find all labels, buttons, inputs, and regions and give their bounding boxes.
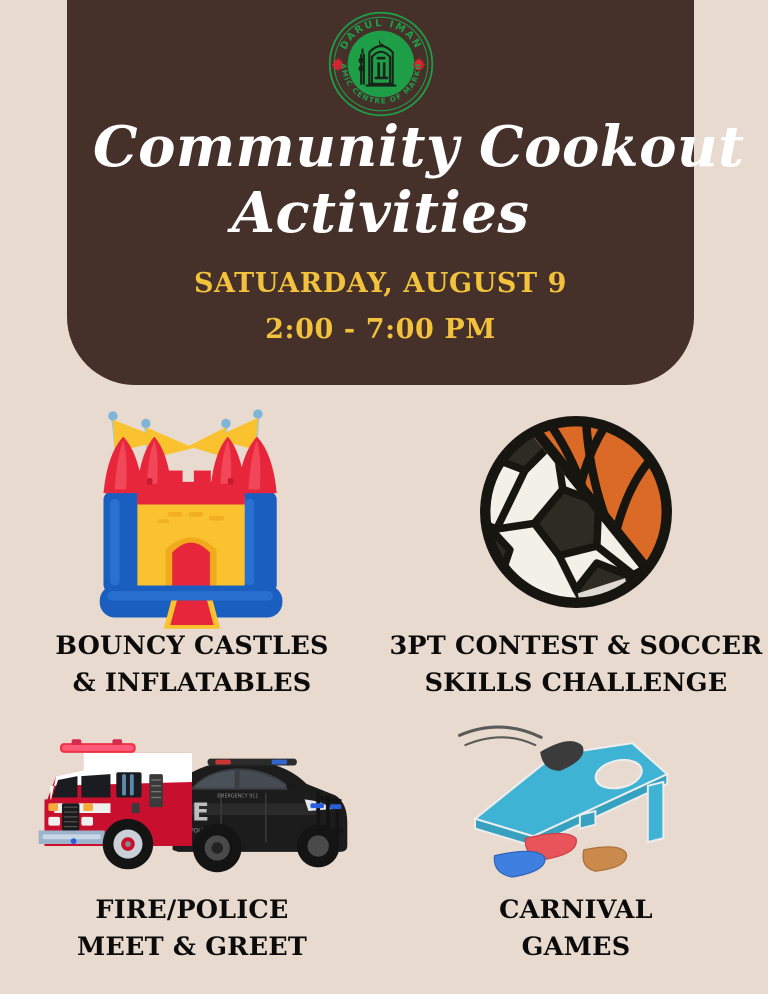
fire-truck-icon [39, 740, 192, 870]
fire-truck-and-police-car-icon: E POLICE EMERGENCY 911 [0, 702, 384, 892]
darul-iman-mosque-logo-icon: DARUL IMAN ISLAMIC CENTRE OF MARKHAM [327, 10, 435, 118]
activity-card-carnival-games: CARNIVAL GAMES [384, 702, 768, 994]
bouncy-castle-icon [0, 396, 384, 628]
activity-caption: BOUNCY CASTLES & INFLATABLES [55, 628, 328, 702]
bean-bag-blue [494, 852, 545, 878]
caption-line-1: BOUNCY CASTLES [55, 628, 328, 665]
header-panel: DARUL IMAN ISLAMIC CENTRE OF MARKHAM Com… [67, 0, 694, 385]
caption-line-1: 3PT CONTEST & SOCCER [389, 628, 762, 665]
caption-line-2: SKILLS CHALLENGE [389, 665, 762, 702]
poster: DARUL IMAN ISLAMIC CENTRE OF MARKHAM Com… [0, 0, 768, 994]
activity-caption: CARNIVAL GAMES [499, 892, 653, 966]
activity-caption: 3PT CONTEST & SOCCER SKILLS CHALLENGE [389, 628, 762, 702]
caption-line-1: CARNIVAL [499, 892, 653, 929]
title-line-2: Activities [93, 178, 668, 248]
soccer-basketball-split-icon [384, 396, 768, 628]
activity-grid: BOUNCY CASTLES & INFLATABLES [0, 396, 768, 994]
activity-card-3pt-soccer: 3PT CONTEST & SOCCER SKILLS CHALLENGE [384, 396, 768, 702]
caption-line-2: MEET & GREET [77, 929, 307, 966]
event-date: SATUARDAY, AUGUST 9 [67, 270, 694, 297]
bean-bag-brown [583, 847, 627, 871]
svg-text:EMERGENCY 911: EMERGENCY 911 [217, 794, 258, 800]
title-line-1: Community Cookout [93, 112, 668, 182]
caption-line-1: FIRE/POLICE [77, 892, 307, 929]
caption-line-2: GAMES [499, 929, 653, 966]
svg-text:E: E [192, 798, 209, 827]
activity-card-fire-police: E POLICE EMERGENCY 911 [0, 702, 384, 994]
activity-card-bouncy-castles: BOUNCY CASTLES & INFLATABLES [0, 396, 384, 702]
activity-caption: FIRE/POLICE MEET & GREET [77, 892, 307, 966]
police-car-icon: E POLICE EMERGENCY 911 [173, 759, 348, 873]
caption-line-2: & INFLATABLES [55, 665, 328, 702]
cornhole-board-icon [384, 702, 768, 892]
page-title: Community Cookout Activities [67, 112, 694, 248]
event-time: 2:00 - 7:00 PM [67, 316, 694, 343]
